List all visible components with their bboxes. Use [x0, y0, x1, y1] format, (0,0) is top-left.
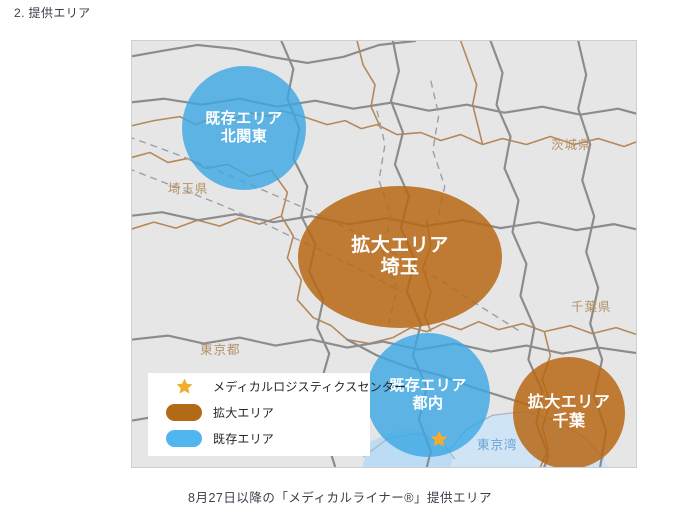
- legend-label: メディカルロジスティクスセンター: [213, 378, 406, 395]
- map-label-ibaraki-ken: 茨城県: [551, 134, 592, 153]
- map-legend: メディカルロジスティクスセンター 拡大エリア 既存エリア: [148, 373, 370, 456]
- area-label-line2: 埼玉: [380, 257, 419, 279]
- page-title: 2. 提供エリア: [14, 4, 91, 21]
- area-label-line2: 都内: [412, 395, 443, 413]
- page-root: 2. 提供エリア: [0, 0, 680, 532]
- legend-item-logistics-center: メディカルロジスティクスセンター: [148, 373, 370, 399]
- area-label-line1: 拡大エリア: [528, 394, 611, 413]
- map-label-tokyo-to: 東京都: [200, 339, 241, 358]
- legend-label: 既存エリア: [213, 430, 274, 447]
- legend-label: 拡大エリア: [213, 404, 274, 421]
- area-existing-tonai[interactable]: 既存エリア 都内: [366, 333, 490, 457]
- map-label-tokyo-bay: 東京湾: [477, 434, 518, 453]
- star-icon: [175, 377, 194, 396]
- brown-pill-swatch: [166, 404, 202, 421]
- map-label-chiba-ken: 千葉県: [571, 296, 612, 315]
- area-expand-chiba[interactable]: 拡大エリア 千葉: [513, 357, 625, 468]
- area-label-line2: 千葉: [552, 413, 585, 432]
- area-existing-kitakanto[interactable]: 既存エリア 北関東: [182, 66, 306, 190]
- blue-pill-swatch: [166, 430, 202, 447]
- legend-star-icon: [166, 378, 202, 395]
- legend-item-existing-area: 既存エリア: [148, 425, 370, 451]
- area-expand-saitama[interactable]: 拡大エリア 埼玉: [298, 186, 502, 328]
- map-label-saitama-ken: 埼玉県: [168, 178, 209, 197]
- area-label-line1: 拡大エリア: [351, 235, 449, 257]
- service-area-map[interactable]: 既存エリア 北関東 拡大エリア 埼玉 既存エリア 都内 拡大エリア 千葉 埼玉県…: [131, 40, 637, 468]
- figure-caption: 8月27日以降の「メディカルライナー®」提供エリア: [0, 487, 680, 506]
- legend-item-expand-area: 拡大エリア: [148, 399, 370, 425]
- area-label-line2: 北関東: [221, 128, 268, 146]
- area-label-line1: 既存エリア: [205, 110, 283, 128]
- star-icon[interactable]: [429, 429, 449, 449]
